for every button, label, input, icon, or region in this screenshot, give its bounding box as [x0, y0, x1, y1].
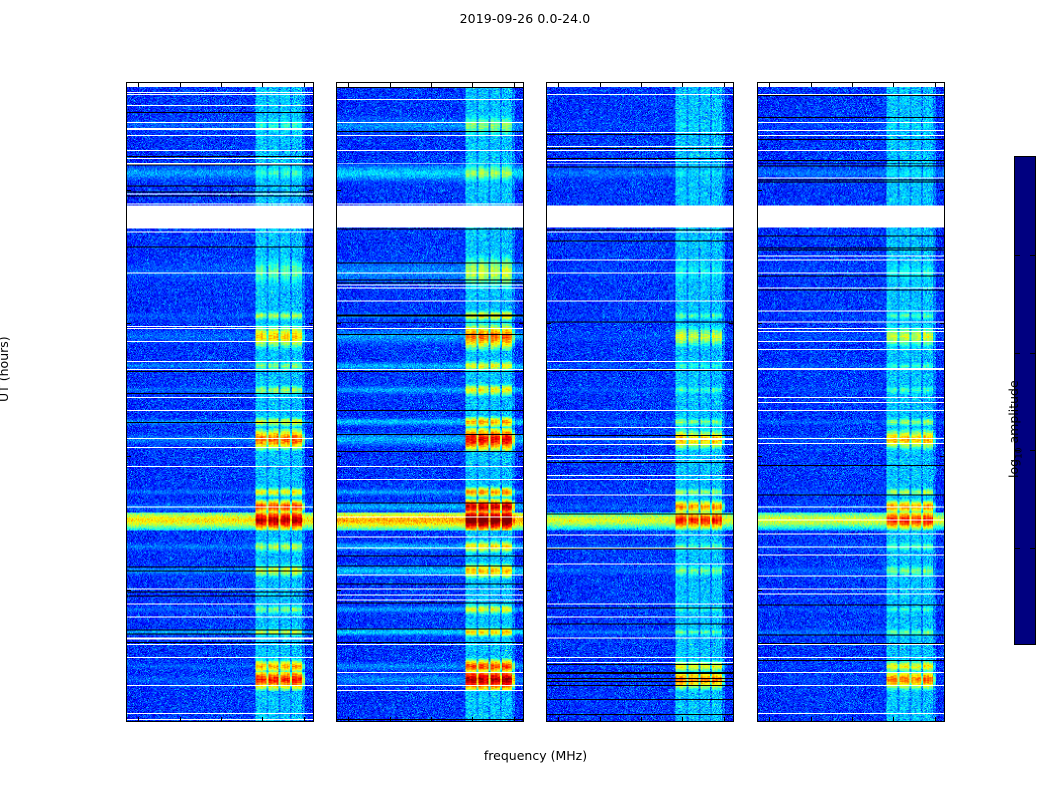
y-tick-mark [729, 190, 733, 191]
y-tick-mark [337, 590, 341, 591]
y-tick-mark [337, 323, 341, 324]
y-tick-mark [127, 323, 131, 324]
figure-suptitle: 2019-09-26 0.0-24.0 [0, 11, 1050, 26]
x-tick-mark [935, 83, 936, 87]
x-tick-mark [431, 717, 432, 721]
colorbar-label-tail: amplitude [1006, 380, 1021, 447]
y-tick-mark [940, 590, 944, 591]
y-tick-mark [127, 456, 131, 457]
y-tick-mark [729, 456, 733, 457]
waterfall-image-yy [337, 83, 523, 721]
x-tick-mark [852, 83, 853, 87]
x-tick-mark [935, 717, 936, 721]
waterfall-image-xy [547, 83, 733, 721]
y-tick-mark [309, 323, 313, 324]
panel-xy[interactable]: XY, V4*V17=EA05*EA23 0510152032033535036… [546, 82, 734, 722]
y-tick-mark [729, 590, 733, 591]
x-tick-mark [221, 83, 222, 87]
y-tick-mark [940, 456, 944, 457]
x-tick-mark [724, 717, 725, 721]
y-tick-mark [547, 456, 551, 457]
x-tick-mark [514, 83, 515, 87]
colorbar-label: log10 amplitude [1006, 380, 1025, 478]
x-tick-mark [600, 83, 601, 87]
colorbar-tick-mark [1015, 353, 1020, 354]
y-tick-mark [519, 323, 523, 324]
x-tick-mark [472, 83, 473, 87]
x-tick-mark [769, 717, 770, 721]
y-tick-mark [519, 190, 523, 191]
x-tick-mark [852, 717, 853, 721]
y-tick-mark [940, 323, 944, 324]
colorbar-tick-mark [1030, 450, 1035, 451]
x-tick-mark [348, 717, 349, 721]
x-tick-mark [811, 83, 812, 87]
y-tick-mark [547, 190, 551, 191]
x-tick-mark [600, 717, 601, 721]
x-tick-mark [682, 717, 683, 721]
y-tick-mark [758, 456, 762, 457]
colorbar-tick-mark [1030, 548, 1035, 549]
y-tick-mark [758, 190, 762, 191]
x-tick-mark [769, 83, 770, 87]
x-tick-mark [262, 717, 263, 721]
x-tick-mark [304, 717, 305, 721]
y-axis-label: UT (hours) [0, 336, 11, 402]
x-tick-mark [262, 83, 263, 87]
x-tick-mark [180, 717, 181, 721]
y-tick-mark [309, 590, 313, 591]
x-tick-mark [811, 717, 812, 721]
y-tick-mark [127, 190, 131, 191]
colorbar-label-sub: 10 [1015, 447, 1025, 458]
x-axis-label: frequency (MHz) [126, 748, 945, 763]
y-tick-mark [758, 590, 762, 591]
y-tick-mark [729, 323, 733, 324]
y-tick-mark [758, 323, 762, 324]
x-tick-mark [558, 83, 559, 87]
x-tick-mark [304, 83, 305, 87]
x-tick-mark [641, 717, 642, 721]
colorbar-label-main: log [1006, 459, 1021, 478]
x-tick-mark [180, 83, 181, 87]
x-tick-mark [431, 83, 432, 87]
y-tick-mark [337, 456, 341, 457]
y-tick-mark [309, 456, 313, 457]
x-tick-mark [558, 717, 559, 721]
y-tick-mark [337, 190, 341, 191]
waterfall-image-yx [758, 83, 944, 721]
x-tick-mark [472, 717, 473, 721]
y-tick-mark [940, 190, 944, 191]
panel-yy[interactable]: YY, V4*V17=EA05*EA23 0510152032033535036… [336, 82, 524, 722]
y-tick-mark [127, 590, 131, 591]
figure-canvas: 2019-09-26 0.0-24.0 XX, V4*V17=EA05*EA23… [0, 0, 1050, 800]
y-tick-mark [519, 590, 523, 591]
x-tick-mark [514, 717, 515, 721]
x-tick-mark [138, 717, 139, 721]
panel-xx[interactable]: XX, V4*V17=EA05*EA23 0510152032033535036… [126, 82, 314, 722]
x-tick-mark [348, 83, 349, 87]
y-tick-mark [309, 190, 313, 191]
colorbar-tick-mark [1030, 255, 1035, 256]
y-tick-mark [547, 590, 551, 591]
panel-yx[interactable]: YX, V4*V17=EA05*EA23 0510152032033535036… [757, 82, 945, 722]
x-tick-mark [221, 717, 222, 721]
colorbar-tick-mark [1015, 255, 1020, 256]
x-tick-mark [893, 83, 894, 87]
x-tick-mark [641, 83, 642, 87]
x-tick-mark [390, 717, 391, 721]
x-tick-mark [390, 83, 391, 87]
x-tick-mark [724, 83, 725, 87]
x-tick-mark [138, 83, 139, 87]
x-tick-mark [682, 83, 683, 87]
waterfall-image-xx [127, 83, 313, 721]
y-tick-mark [547, 323, 551, 324]
x-tick-mark [893, 717, 894, 721]
y-tick-mark [519, 456, 523, 457]
colorbar-tick-mark [1015, 548, 1020, 549]
colorbar-tick-mark [1030, 353, 1035, 354]
